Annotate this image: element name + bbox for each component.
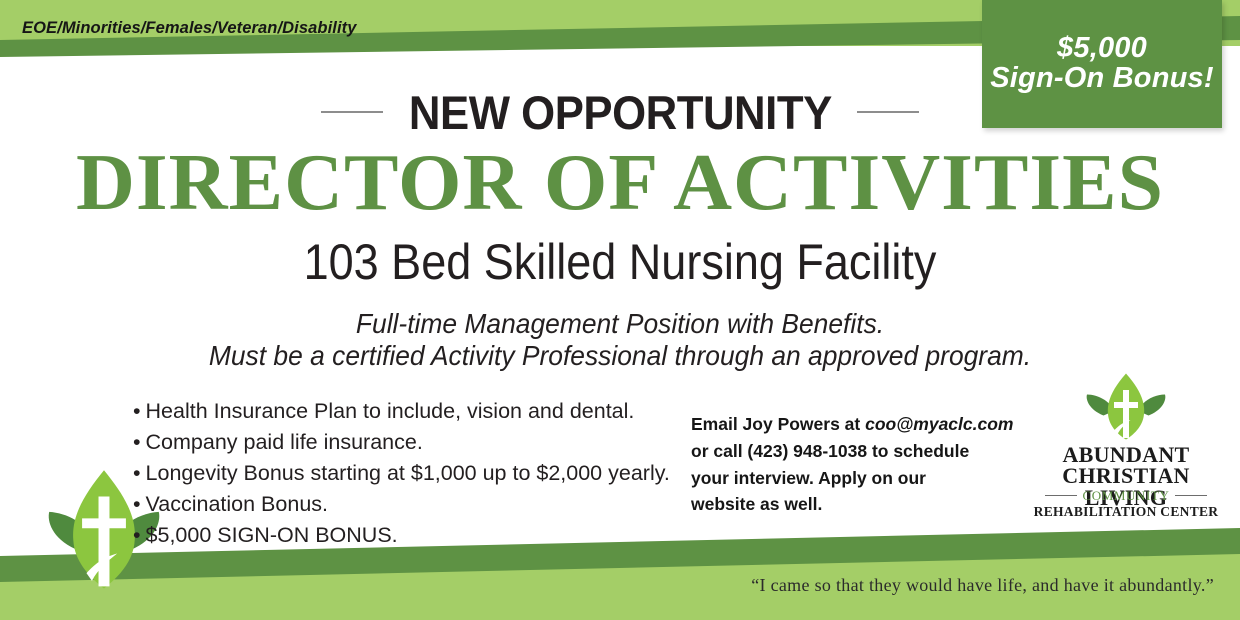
contact-block: Email Joy Powers at coo@myaclc.com or ca… — [691, 411, 1021, 518]
rule-right-icon — [857, 111, 919, 113]
list-item: •Longevity Bonus starting at $1,000 up t… — [133, 458, 693, 489]
subtitle-line-2: Must be a certified Activity Professiona… — [25, 340, 1215, 372]
footer-tagline: “I came so that they would have life, an… — [0, 575, 1240, 596]
list-item: •Health Insurance Plan to include, visio… — [133, 396, 693, 427]
list-item: •Company paid life insurance. — [133, 427, 693, 458]
list-item: •Vaccination Bonus. — [133, 489, 693, 520]
logo-rehab-label: REHABILITATION CENTER — [1022, 505, 1230, 519]
rule-right-icon — [1175, 495, 1207, 496]
company-logo: ABUNDANT CHRISTIAN LIVING COMMUNITY REHA… — [1022, 372, 1230, 520]
bullet-dot-icon: • — [133, 430, 141, 454]
rule-left-icon — [1045, 495, 1077, 496]
list-item-label: Company paid life insurance. — [146, 430, 423, 454]
bullet-dot-icon: • — [133, 399, 141, 423]
page-title: DIRECTOR OF ACTIVITIES — [0, 142, 1240, 224]
bullet-dot-icon: • — [133, 461, 141, 485]
eoe-statement: EOE/Minorities/Females/Veteran/Disabilit… — [22, 19, 357, 38]
list-item-label: Health Insurance Plan to include, vision… — [146, 399, 635, 423]
list-item: •$5,000 SIGN-ON BONUS. — [133, 520, 693, 551]
contact-email[interactable]: coo@myaclc.com — [865, 414, 1013, 434]
rule-left-icon — [321, 111, 383, 113]
contact-line-3: your interview. Apply on our — [691, 468, 926, 488]
eyebrow-text: NEW OPPORTUNITY — [409, 89, 832, 136]
leaf-cross-logo-icon — [1080, 372, 1172, 444]
benefits-list: •Health Insurance Plan to include, visio… — [133, 396, 693, 551]
list-item-label: Longevity Bonus starting at $1,000 up to… — [146, 461, 670, 485]
subtitle-line-1: Full-time Management Position with Benef… — [25, 308, 1215, 340]
bullet-dot-icon: • — [133, 492, 141, 516]
contact-line-2: or call (423) 948-1038 to schedule — [691, 441, 969, 461]
sign-on-bonus-badge: $5,000 Sign-On Bonus! — [982, 0, 1222, 128]
bonus-amount: $5,000 — [1057, 33, 1147, 64]
bullet-dot-icon: • — [133, 523, 141, 547]
bonus-label: Sign-On Bonus! — [990, 63, 1214, 95]
logo-community-row: COMMUNITY — [1022, 489, 1230, 502]
facility-line: 103 Bed Skilled Nursing Facility — [62, 235, 1178, 290]
logo-community-label: COMMUNITY — [1082, 489, 1169, 502]
list-item-label: $5,000 SIGN-ON BONUS. — [146, 523, 398, 547]
job-advertisement-poster: EOE/Minorities/Females/Veteran/Disabilit… — [0, 0, 1240, 620]
list-item-label: Vaccination Bonus. — [146, 492, 328, 516]
contact-line-1-prefix: Email Joy Powers at — [691, 414, 865, 434]
contact-line-4: website as well. — [691, 494, 822, 514]
